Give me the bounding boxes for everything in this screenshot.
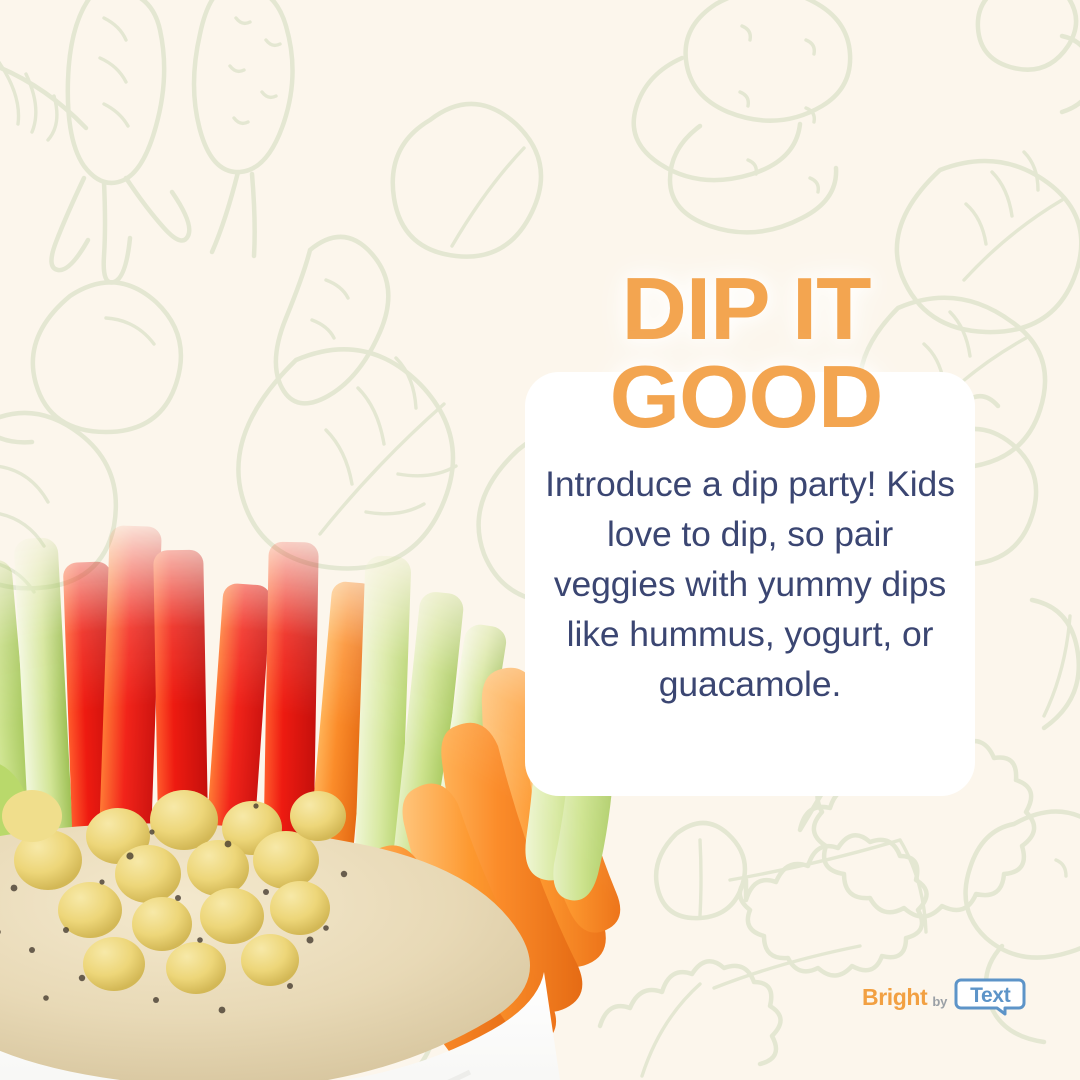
logo-bright-word: Bright [862, 984, 927, 1011]
bright-by-text-logo[interactable]: Bright by Text [862, 978, 1026, 1016]
page-title: DIP IT GOOD [478, 265, 1014, 441]
logo-text-word: Text [954, 978, 1026, 1016]
poster-canvas: DIP IT GOOD Introduce a dip party! Kids … [0, 0, 1080, 1080]
logo-by-word: by [932, 994, 947, 1009]
speech-bubble-icon: Text [954, 978, 1026, 1016]
